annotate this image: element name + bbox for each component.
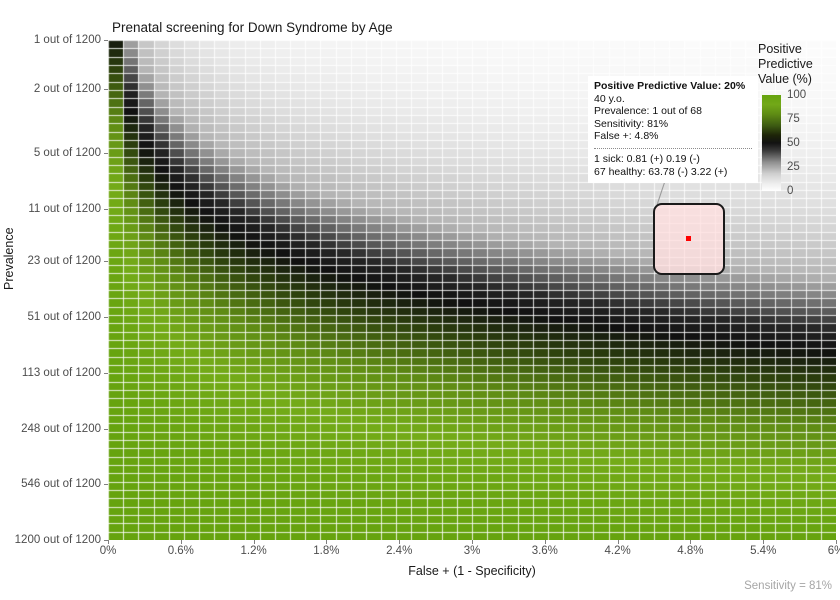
y-axis-tick <box>104 261 108 262</box>
selected-point-marker[interactable] <box>686 236 691 241</box>
y-axis-tick-label: 11 out of 1200 <box>28 203 101 215</box>
x-axis-tick <box>108 540 109 544</box>
y-axis-tick-label: 51 out of 1200 <box>27 311 101 323</box>
tooltip-false-positive: False +: 4.8% <box>594 130 752 143</box>
x-axis-tick-label: 0% <box>100 545 117 557</box>
x-axis-tick <box>763 540 764 544</box>
x-axis-tick-label: 1.8% <box>313 545 339 557</box>
legend-key-label: 50 <box>787 137 800 149</box>
y-axis-tick-label: 248 out of 1200 <box>21 423 101 435</box>
legend-title-line-2: Predictive <box>758 57 840 72</box>
x-axis-tick <box>836 540 837 544</box>
legend: Positive Predictive Value (%) 1007550250 <box>758 42 840 191</box>
x-axis-tick-label: 6% <box>828 545 840 557</box>
x-axis-tick-label: 4.2% <box>604 545 630 557</box>
y-axis-tick <box>104 484 108 485</box>
x-axis-tick-label: 0.6% <box>168 545 194 557</box>
y-axis-tick <box>104 40 108 41</box>
x-axis-tick <box>399 540 400 544</box>
y-axis-tick-label: 1 out of 1200 <box>34 34 101 46</box>
tooltip-healthy-breakdown: 67 healthy: 63.78 (-) 3.22 (+) <box>594 166 752 179</box>
tooltip-sensitivity: Sensitivity: 81% <box>594 118 752 131</box>
y-axis-tick-label: 5 out of 1200 <box>34 147 101 159</box>
y-axis-tick-label: 1200 out of 1200 <box>15 534 101 546</box>
y-axis-tick-label: 2 out of 1200 <box>34 83 101 95</box>
tooltip: Positive Predictive Value: 20% 40 y.o. P… <box>588 76 758 183</box>
sensitivity-caption: Sensitivity = 81% <box>744 580 832 592</box>
legend-key-label: 75 <box>787 113 800 125</box>
x-axis-tick-label: 1.2% <box>240 545 266 557</box>
legend-key-label: 100 <box>787 89 806 101</box>
x-axis-tick <box>254 540 255 544</box>
legend-key-label: 25 <box>787 161 800 173</box>
y-axis-title: Prevalence <box>2 227 16 290</box>
x-axis-tick-label: 3.6% <box>532 545 558 557</box>
y-axis-tick <box>104 429 108 430</box>
legend-title-line-1: Positive <box>758 42 840 57</box>
y-axis-tick <box>104 209 108 210</box>
tooltip-divider <box>594 148 752 149</box>
x-axis-tick-label: 5.4% <box>750 545 776 557</box>
x-axis-tick <box>181 540 182 544</box>
legend-title: Positive Predictive Value (%) <box>758 42 840 87</box>
x-axis-tick <box>690 540 691 544</box>
x-axis-tick <box>472 540 473 544</box>
x-axis-tick <box>618 540 619 544</box>
page-title: Prenatal screening for Down Syndrome by … <box>112 20 393 35</box>
y-axis-tick <box>104 89 108 90</box>
x-axis-tick-label: 2.4% <box>386 545 412 557</box>
y-axis-tick <box>104 317 108 318</box>
legend-key-label: 0 <box>787 185 793 197</box>
y-axis-tick-label: 23 out of 1200 <box>27 255 101 267</box>
tooltip-age: 40 y.o. <box>594 93 752 106</box>
y-axis-tick <box>104 373 108 374</box>
chart-root: Prenatal screening for Down Syndrome by … <box>0 0 840 600</box>
tooltip-headline: Positive Predictive Value: 20% <box>594 80 752 93</box>
legend-colorbar <box>762 95 781 191</box>
legend-title-line-3: Value (%) <box>758 72 840 87</box>
legend-body: 1007550250 <box>758 95 840 191</box>
y-axis-tick-label: 546 out of 1200 <box>21 478 101 490</box>
x-axis-tick <box>545 540 546 544</box>
x-axis-tick <box>326 540 327 544</box>
tooltip-sick-breakdown: 1 sick: 0.81 (+) 0.19 (-) <box>594 153 752 166</box>
tooltip-prevalence: Prevalence: 1 out of 68 <box>594 105 752 118</box>
x-axis-tick-label: 3% <box>464 545 481 557</box>
x-axis-tick-label: 4.8% <box>677 545 703 557</box>
y-axis-tick-label: 113 out of 1200 <box>22 367 101 379</box>
x-axis-title: False + (1 - Specificity) <box>108 564 836 578</box>
y-axis-tick <box>104 153 108 154</box>
